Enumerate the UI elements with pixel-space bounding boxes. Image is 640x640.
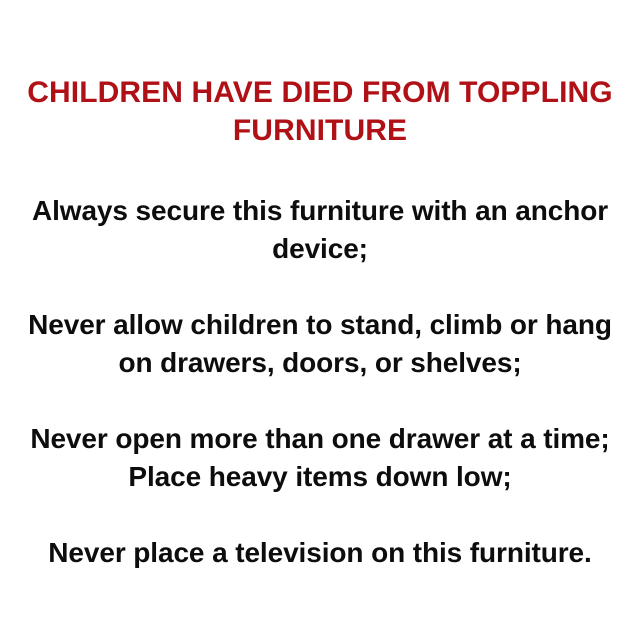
instruction-item: Always secure this furniture with an anc… (11, 192, 629, 268)
heading-body-spacer (11, 150, 629, 192)
instruction-item: Never allow children to stand, climb or … (11, 306, 629, 382)
instruction-item: Never place a television on this furnitu… (11, 534, 629, 572)
warning-sheet: CHILDREN HAVE DIED FROM TOPPLING FURNITU… (0, 0, 640, 640)
warning-heading: CHILDREN HAVE DIED FROM TOPPLING FURNITU… (11, 74, 629, 150)
instruction-item: Never open more than one drawer at a tim… (11, 420, 629, 496)
instruction-list: Always secure this furniture with an anc… (11, 192, 629, 572)
